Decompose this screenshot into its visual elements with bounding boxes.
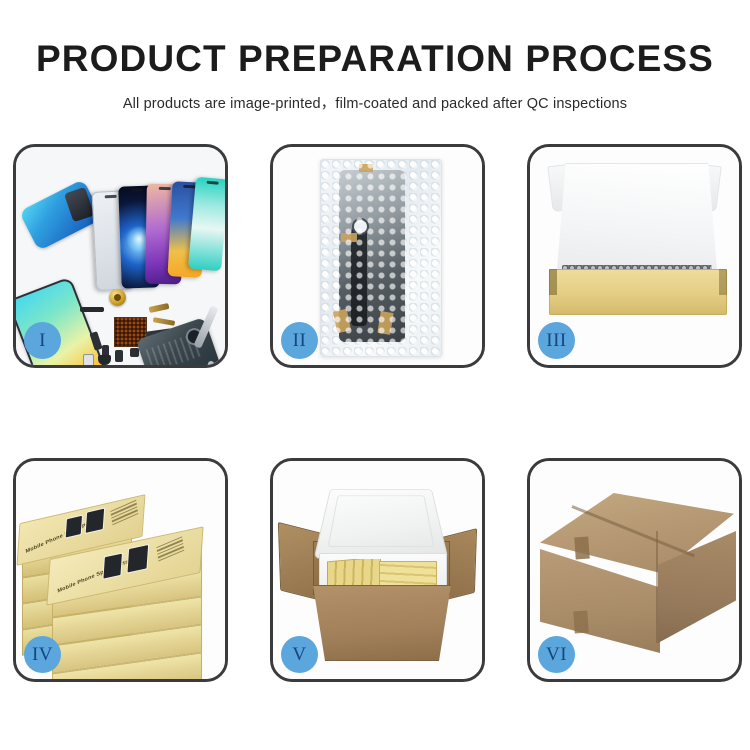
page-subtitle: All products are image-printed，film-coat… [0, 92, 750, 113]
carton-tape-lower [573, 611, 589, 634]
product-preparation-infographic: PRODUCT PREPARATION PROCESS All products… [0, 0, 750, 750]
label-spec-lines-back [110, 500, 138, 527]
label-window-front-1 [102, 552, 123, 579]
label-spec-lines-front [156, 536, 184, 563]
battery-connector-part [83, 354, 94, 365]
small-component-2 [130, 348, 139, 357]
label-window-back-2 [85, 507, 106, 534]
step-badge-2: II [281, 322, 318, 359]
step-badge-6: VI [538, 636, 575, 673]
kraft-box-tray [549, 269, 727, 315]
step-panel-5: V [270, 458, 485, 682]
page-title: PRODUCT PREPARATION PROCESS [0, 40, 750, 79]
step-badge-5: V [281, 636, 318, 673]
process-steps-grid: I II [13, 144, 737, 682]
box-lid-open [556, 163, 718, 281]
step-panel-4: Mobile Phone Spare Parts [13, 458, 228, 682]
step-badge-1: I [24, 322, 61, 359]
step-panel-1: I [13, 144, 228, 368]
header: PRODUCT PREPARATION PROCESS All products… [0, 0, 750, 113]
small-component-3 [115, 350, 123, 362]
step-badge-3: III [538, 322, 575, 359]
flex-cable-part-1 [80, 307, 104, 312]
step-panel-6: VI [527, 458, 742, 682]
speaker-coil-part [109, 289, 126, 306]
screw-part-1 [208, 361, 214, 365]
label-window-front-2 [126, 544, 149, 574]
step-badge-4: IV [24, 636, 61, 673]
step-panel-2: II [270, 144, 485, 368]
label-window-back-1 [65, 515, 83, 539]
phone-fan-group [94, 165, 224, 290]
foam-box-lid [314, 489, 449, 559]
step-panel-3: III [527, 144, 742, 368]
carton-tape-upper [574, 537, 590, 560]
carton-front-wall [307, 585, 457, 661]
bubble-wrap-bag [320, 159, 442, 357]
bubble-texture-overlay [321, 160, 441, 356]
carton-vertical-edge [656, 531, 658, 643]
